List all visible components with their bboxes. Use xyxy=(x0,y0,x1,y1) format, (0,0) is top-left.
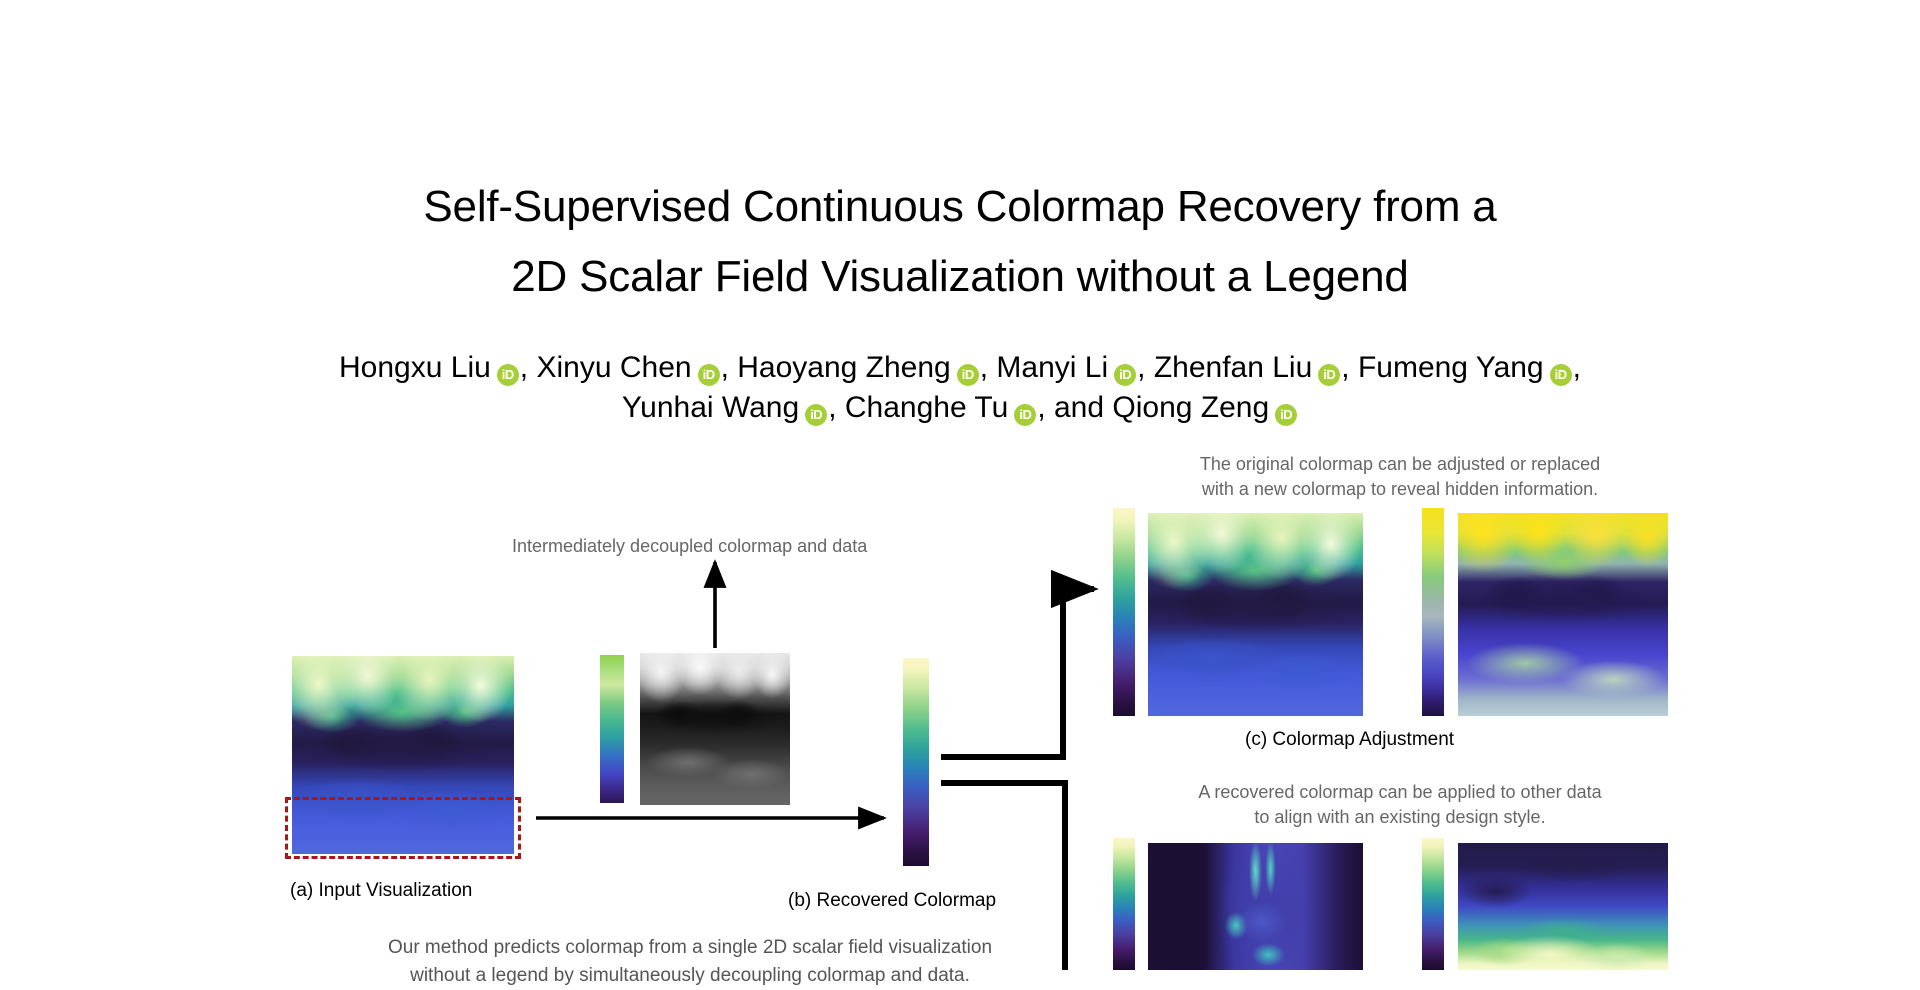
arrow-colormap-to-adjustment xyxy=(941,589,1094,757)
adjusted-visualization-2 xyxy=(1458,513,1668,716)
note-transfer-line-1: A recovered colormap can be applied to o… xyxy=(1198,782,1601,802)
adjusted-colorbar-1 xyxy=(1113,508,1135,716)
note-colormap-transfer: A recovered colormap can be applied to o… xyxy=(1135,780,1665,830)
transfer-colorbar-1 xyxy=(1113,838,1135,970)
note-intermediate-decoupled: Intermediately decoupled colormap and da… xyxy=(512,536,867,557)
caption-recovered-colormap: (b) Recovered Colormap xyxy=(788,890,996,912)
transfer-visualization-terrain xyxy=(1458,843,1668,970)
caption-colormap-adjustment: (c) Colormap Adjustment xyxy=(1245,729,1454,751)
method-summary-line-1: Our method predicts colormap from a sing… xyxy=(388,937,992,958)
input-highlight-box xyxy=(285,797,521,859)
method-summary-line-2: without a legend by simultaneously decou… xyxy=(410,965,970,986)
transfer-visualization-ct xyxy=(1148,843,1363,970)
note-adjust-line-1: The original colormap can be adjusted or… xyxy=(1200,454,1600,474)
note-adjust-line-2: with a new colormap to reveal hidden inf… xyxy=(1202,479,1598,499)
adjusted-visualization-1 xyxy=(1148,513,1363,716)
method-summary-text: Our method predicts colormap from a sing… xyxy=(330,934,1050,990)
teaser-figure: (a) Input Visualization Intermediately d… xyxy=(0,0,1920,970)
caption-input-visualization: (a) Input Visualization xyxy=(290,880,472,902)
decoupled-data-image xyxy=(640,653,790,805)
adjusted-colorbar-2 xyxy=(1422,508,1444,716)
note-transfer-line-2: to align with an existing design style. xyxy=(1254,807,1545,827)
decoupled-colorbar xyxy=(600,655,624,803)
transfer-colorbar-2 xyxy=(1422,838,1444,970)
recovered-colormap-bar xyxy=(903,658,929,866)
note-colormap-adjustment: The original colormap can be adjusted or… xyxy=(1135,452,1665,502)
